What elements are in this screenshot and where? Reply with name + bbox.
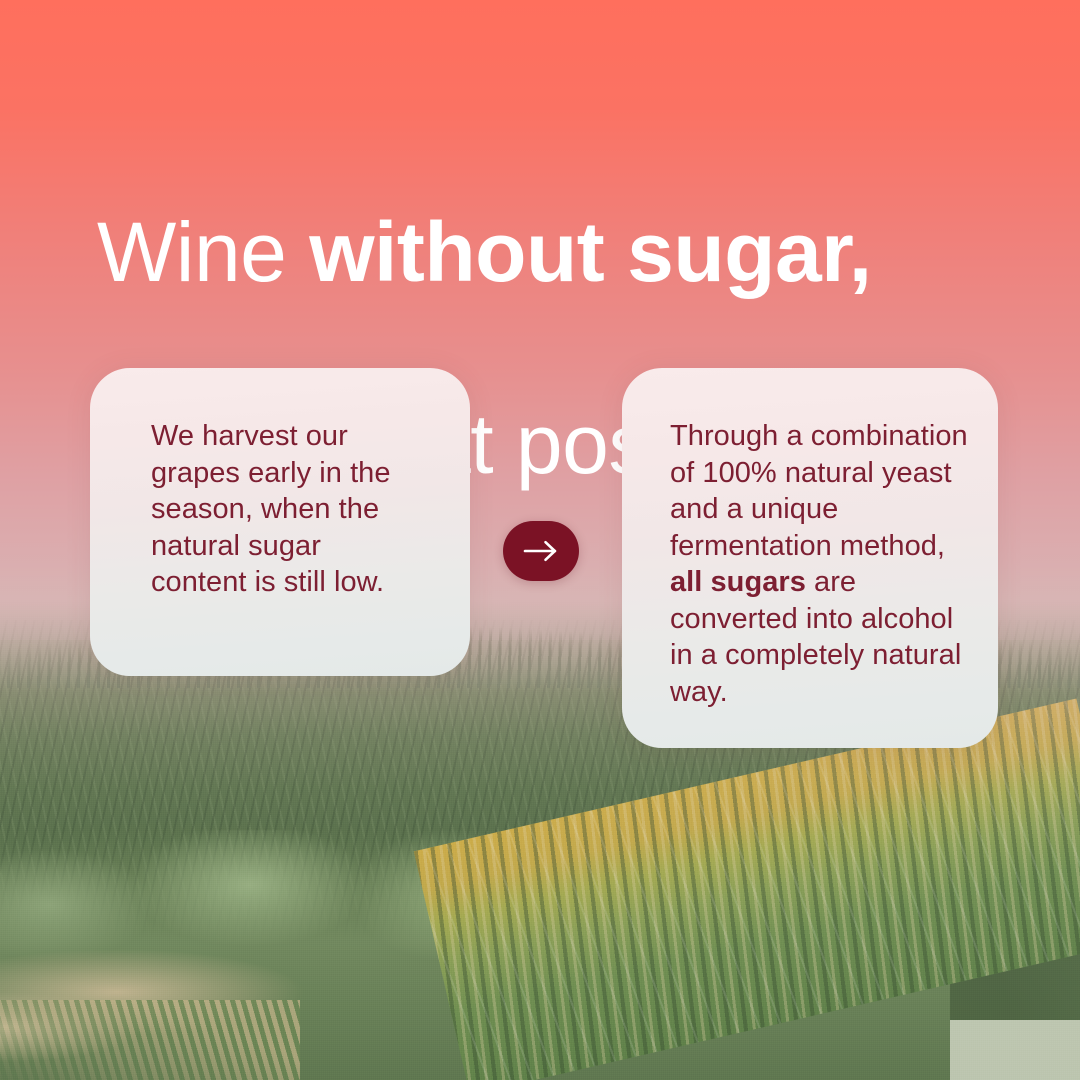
info-card-right-text: Through a combination of 100% natural ye… — [670, 418, 974, 710]
info-card-left-text: We harvest our grapes early in the seaso… — [151, 418, 417, 601]
info-card-right-emphasis: all sugars — [670, 566, 806, 598]
arrow-right-icon — [521, 539, 561, 563]
info-card-right-text-part1: Through a combination of 100% natural ye… — [670, 420, 968, 562]
content-layer: Wine without sugar, how is that possible… — [0, 0, 1080, 1080]
headline-bold-part: without sugar, — [309, 205, 871, 299]
poster-canvas: Wine without sugar, how is that possible… — [0, 0, 1080, 1080]
headline-light-part: Wine — [97, 205, 309, 299]
arrow-right-badge — [503, 521, 579, 581]
headline-line-1: Wine without sugar, — [97, 204, 1017, 300]
info-card-right: Through a combination of 100% natural ye… — [622, 368, 998, 748]
info-card-left: We harvest our grapes early in the seaso… — [90, 368, 470, 676]
